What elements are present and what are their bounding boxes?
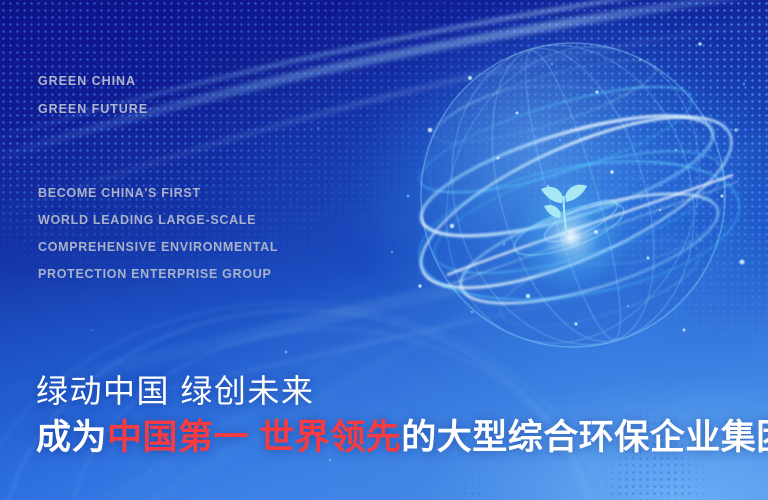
claim-line-2: WORLD LEADING LARGE-SCALE xyxy=(38,213,256,227)
eyebrow-line-1: GREEN CHINA xyxy=(38,74,136,88)
hero-banner: GREEN CHINA GREEN FUTURE BECOME CHINA'S … xyxy=(0,0,768,500)
claim-line-3: COMPREHENSIVE ENVIRONMENTAL xyxy=(38,240,278,254)
headline-cn-highlight: 中国第一 世界领先 xyxy=(107,418,401,457)
claim-line-1: BECOME CHINA'S FIRST xyxy=(38,186,201,200)
headline-cn-suffix: 的大型综合环保企业集团 xyxy=(401,418,768,457)
wireframe-globe xyxy=(403,25,743,365)
eyebrow-line-2: GREEN FUTURE xyxy=(38,102,148,116)
green-sprout-emblem xyxy=(529,173,599,239)
headline-cn-line-1: 绿动中国 绿创未来 xyxy=(36,366,314,412)
headline-cn-line-2: 成为中国第一 世界领先的大型综合环保企业集团 xyxy=(36,409,768,460)
claim-line-4: PROTECTION ENTERPRISE GROUP xyxy=(38,267,272,281)
headline-cn-prefix: 成为 xyxy=(36,418,107,457)
